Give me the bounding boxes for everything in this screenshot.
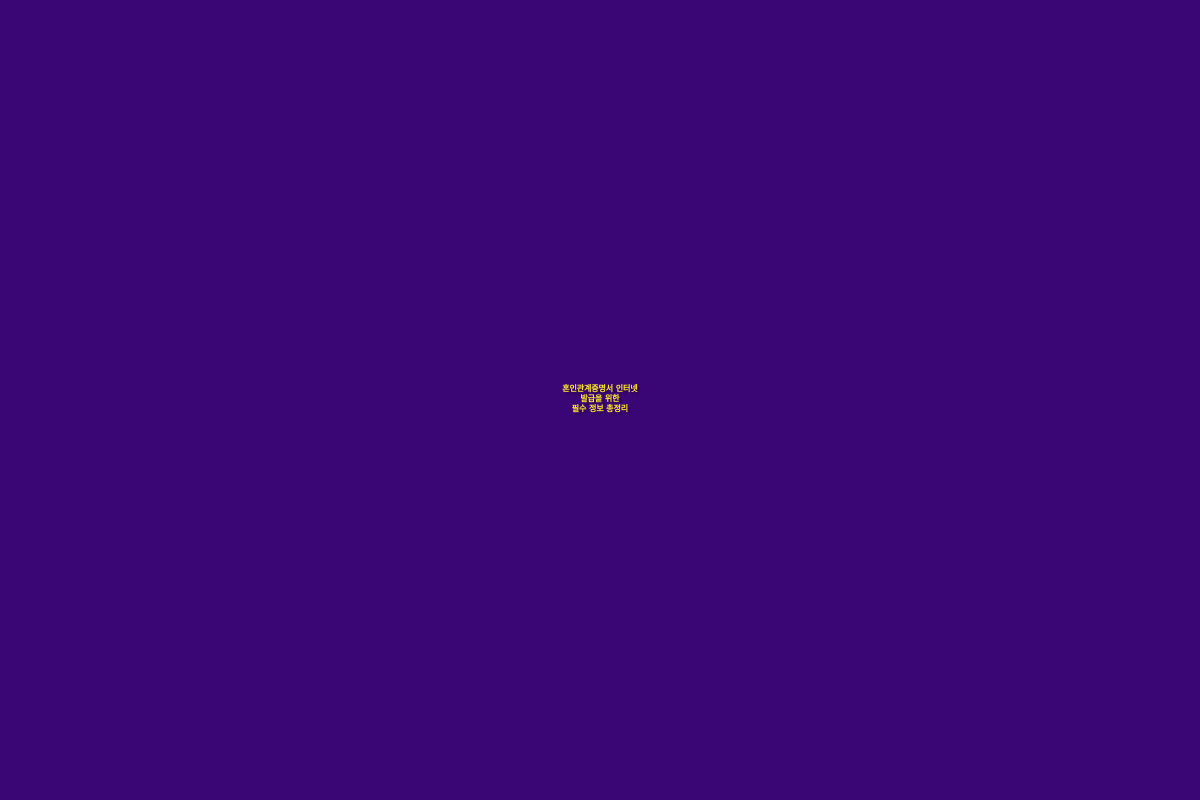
headline-line-2: 발급을 위한 [8,394,1192,404]
headline-block: 혼인관계증명서 인터넷 발급을 위한 필수 정보 총정리 [0,384,1200,415]
thumbnail-banner: 혼인관계증명서 인터넷 발급을 위한 필수 정보 총정리 [0,0,1200,800]
headline-line-1: 혼인관계증명서 인터넷 [8,384,1192,394]
headline-line-3: 필수 정보 총정리 [8,404,1192,414]
